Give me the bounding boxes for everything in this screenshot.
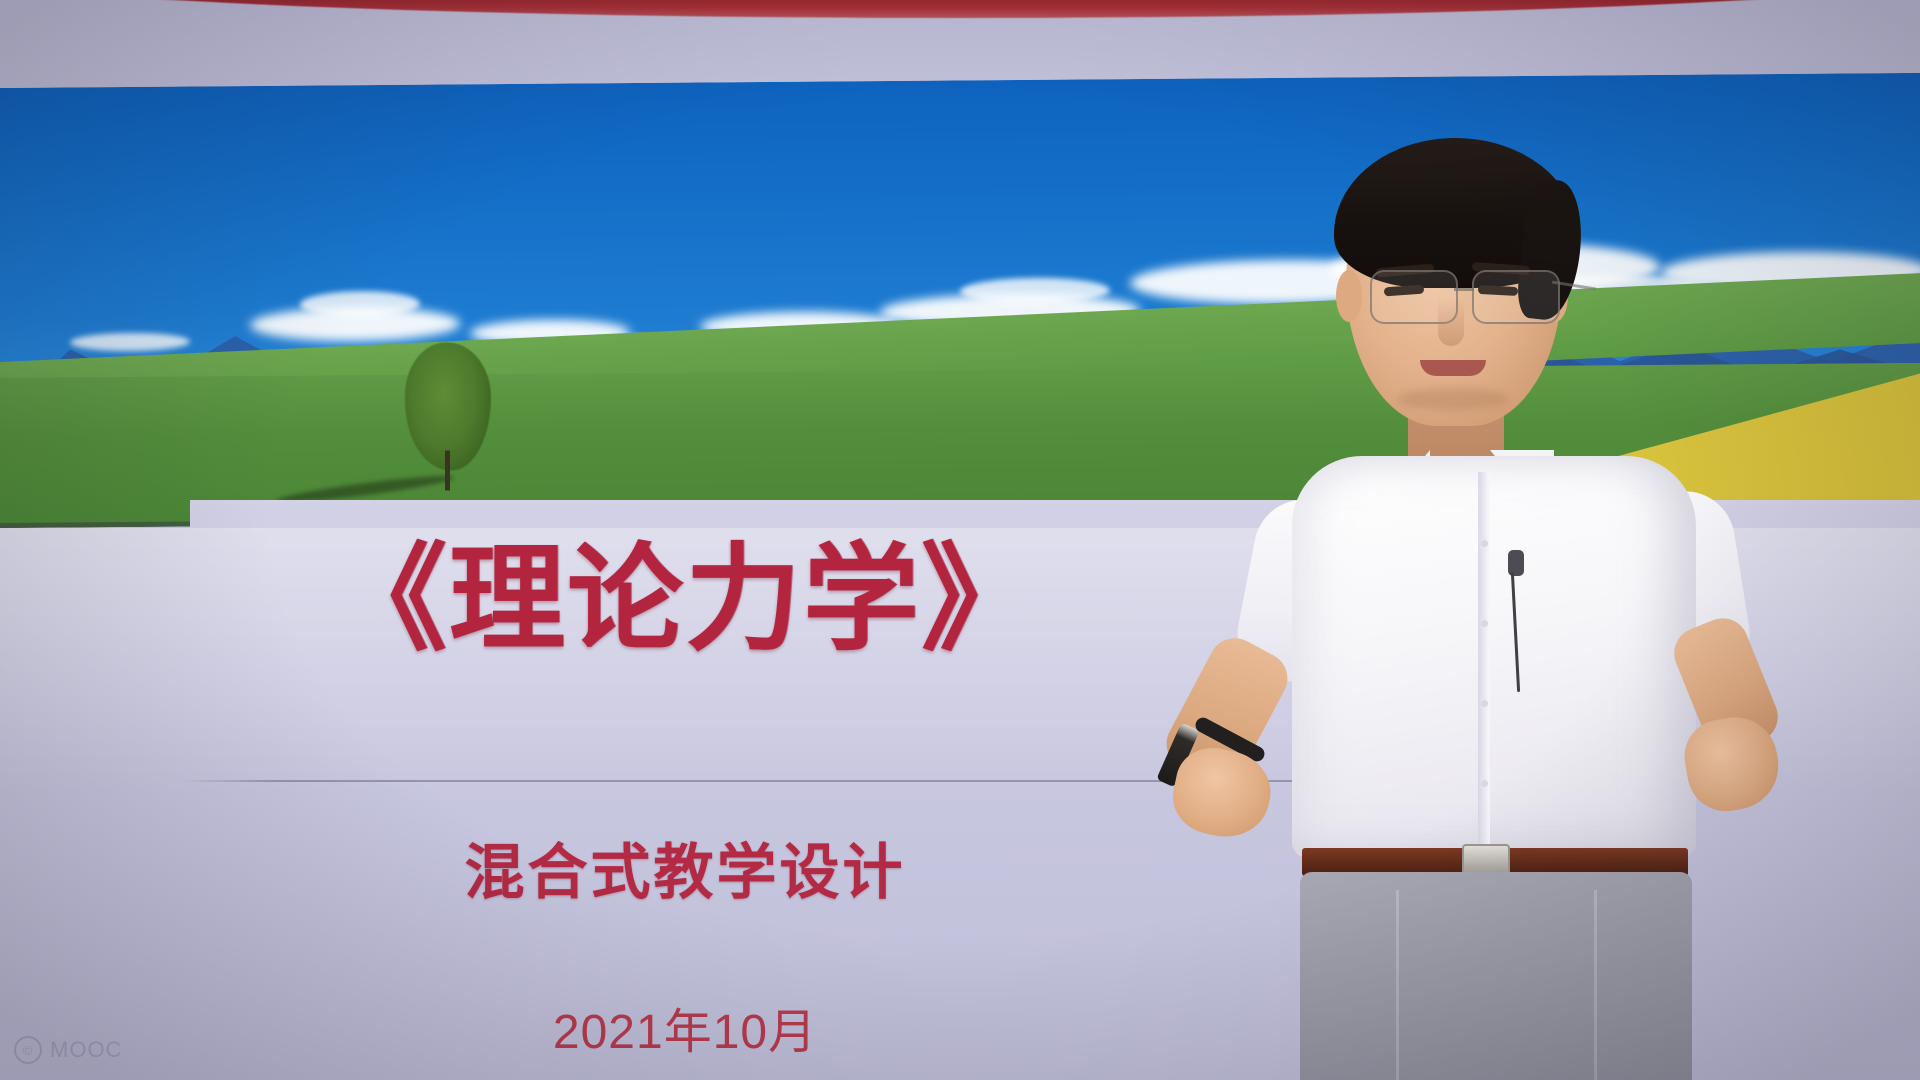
presenter-shirt [1292, 456, 1696, 858]
slide-subtitle: 混合式教学设计 [0, 824, 1370, 911]
trouser-crease [1396, 890, 1399, 1080]
presenter-nose [1438, 298, 1464, 346]
tree-trunk [445, 450, 450, 490]
presenter-chin-shadow [1398, 388, 1508, 410]
presenter-mouth [1420, 360, 1486, 376]
presenter-trousers [1300, 872, 1692, 1080]
slide-title: 《理论力学》 [0, 536, 1370, 664]
shirt-button [1481, 700, 1488, 707]
eyeglass-bridge [1454, 288, 1474, 291]
trouser-crease [1594, 890, 1597, 1080]
eyeglasses-icon [1360, 270, 1576, 326]
shirt-button [1481, 780, 1488, 787]
presenter [1190, 120, 1810, 1080]
presenter-ear-left [1336, 270, 1362, 322]
shirt-button [1481, 620, 1488, 627]
watermark: © MOOC [14, 1036, 122, 1064]
lone-tree [405, 342, 491, 491]
slide-date: 2021年10月 [0, 992, 1370, 1062]
shirt-placket [1478, 472, 1490, 854]
screen-recording-frame: 《理论力学》 混合式教学设计 2021年10月 [0, 0, 1920, 1080]
shirt-button [1481, 540, 1488, 547]
copyright-icon: © [14, 1036, 42, 1064]
eyeglass-lens-right [1472, 270, 1560, 324]
watermark-text: MOOC [50, 1037, 122, 1063]
